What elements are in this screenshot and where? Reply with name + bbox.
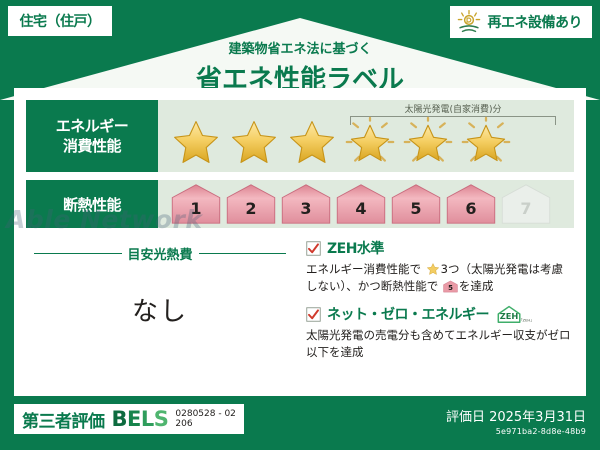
utility-cost-heading: 目安光熱費 — [26, 244, 294, 263]
star-icon — [286, 116, 338, 168]
star-item — [228, 116, 280, 168]
footer: 第三者評価 BELS 0280528 - 02 206 評価日 2025年3月3… — [0, 398, 600, 450]
insulation-badge-inactive: 7 — [500, 183, 552, 225]
insulation-badge-list: 1 2 3 — [170, 183, 552, 225]
renewable-equipment-badge: 再エネ設備あり — [450, 6, 593, 38]
star-icon — [228, 116, 280, 168]
checkbox-checked-icon — [306, 307, 321, 322]
claim-zeh-standard: ZEH水準 エネルギー消費性能で 3つ（太陽光発電は考慮しない）、かつ断熱性能で… — [306, 238, 574, 294]
bels-plate: 第三者評価 BELS 0280528 - 02 206 — [14, 404, 244, 434]
house-type-label: 住宅（住戸） — [20, 11, 101, 31]
insulation-performance-row: 断熱性能 1 — [26, 180, 574, 228]
insulation-badge-number: 1 — [170, 199, 222, 218]
svg-text:「ZEH」: 「ZEH」 — [519, 318, 533, 323]
star-icon — [460, 116, 512, 168]
zeh-logo-icon: ZEH 「ZEH」 — [495, 304, 533, 324]
claims-section: ZEH水準 エネルギー消費性能で 3つ（太陽光発電は考慮しない）、かつ断熱性能で… — [306, 238, 574, 382]
evaluation-date-label: 評価日 — [446, 410, 485, 425]
star-icon — [402, 116, 454, 168]
star-icon — [170, 116, 222, 168]
insulation-badge: 5 — [390, 183, 442, 225]
utility-cost-label: 目安光熱費 — [128, 244, 193, 263]
energy-performance-label: 建築物省エネ法に基づく 省エネ性能ラベル 住宅（住戸） 再エネ設備あり エネルギ… — [0, 0, 600, 450]
divider-left — [34, 253, 122, 254]
energy-performance-key: エネルギー 消費性能 — [26, 100, 158, 172]
claim-body-part1: エネルギー消費性能で — [306, 262, 421, 276]
insulation-badge-number: 4 — [335, 199, 387, 218]
star-item-solar — [344, 116, 396, 168]
svg-text:5: 5 — [448, 284, 453, 292]
insulation-badge-number: 5 — [390, 199, 442, 218]
insulation-key-label: 断熱性能 — [63, 194, 121, 215]
insulation-badge: 1 — [170, 183, 222, 225]
star-icon — [344, 116, 396, 168]
renewable-badge-label: 再エネ設備あり — [488, 12, 583, 32]
energy-key-line2: 消費性能 — [63, 136, 121, 156]
bels-number-line2: 206 — [175, 419, 192, 429]
utility-cost-section: 目安光熱費 なし — [26, 238, 294, 382]
insulation-badge-current: 6 — [445, 183, 497, 225]
evaluation-hash: 5e971ba2-8d8e-48b9 — [446, 427, 586, 436]
evaluation-info: 評価日 2025年3月31日 5e971ba2-8d8e-48b9 — [446, 406, 586, 436]
sun-icon — [456, 9, 482, 35]
insulation-performance-value: 1 2 3 — [158, 180, 574, 228]
claim-net-zero-energy: ネット・ゼロ・エネルギー ZEH 「ZEH」 太陽光発電の売電分も含めてエネルギ… — [306, 304, 574, 360]
insulation-badge-number: 3 — [280, 199, 332, 218]
checkbox-checked-icon — [306, 241, 321, 256]
claim-body: 太陽光発電の売電分も含めてエネルギー収支がゼロ以下を達成 — [306, 327, 574, 360]
bels-number-line1: 0280528 - 02 — [175, 409, 236, 419]
evaluation-date: 評価日 2025年3月31日 — [446, 406, 586, 425]
energy-key-line1: エネルギー — [56, 116, 129, 136]
insulation-performance-key: 断熱性能 — [26, 180, 158, 228]
insulation-badge: 3 — [280, 183, 332, 225]
claim-header: ネット・ゼロ・エネルギー ZEH 「ZEH」 — [306, 304, 574, 324]
bels-number: 0280528 - 02 206 — [175, 409, 236, 430]
star-item — [286, 116, 338, 168]
insulation-badge-number: 2 — [225, 199, 277, 218]
house-badge-icon: 5 — [443, 280, 458, 293]
evaluation-date-value: 2025年3月31日 — [489, 410, 586, 425]
insulation-badge-number: 6 — [445, 199, 497, 218]
claim-title: ZEH水準 — [327, 238, 384, 258]
insulation-badge: 2 — [225, 183, 277, 225]
svg-text:ZEH: ZEH — [500, 311, 519, 321]
main-panel: エネルギー 消費性能 太陽光発電(自家消費)分 — [14, 88, 586, 396]
insulation-badge-number: 7 — [500, 199, 552, 218]
claim-title: ネット・ゼロ・エネルギー — [327, 304, 489, 324]
claim-body: エネルギー消費性能で 3つ（太陽光発電は考慮しない）、かつ断熱性能で 5 を達成 — [306, 261, 574, 294]
claim-body-part3: を達成 — [459, 279, 494, 293]
star-icon — [426, 262, 440, 276]
star-item-solar — [402, 116, 454, 168]
title-subtitle: 建築物省エネ法に基づく — [0, 38, 600, 57]
energy-performance-row: エネルギー 消費性能 太陽光発電(自家消費)分 — [26, 100, 574, 172]
insulation-badge: 4 — [335, 183, 387, 225]
claim-header: ZEH水準 — [306, 238, 574, 258]
house-type-tag: 住宅（住戸） — [8, 6, 112, 36]
star-item-solar — [460, 116, 512, 168]
star-item — [170, 116, 222, 168]
solar-bracket-label: 太陽光発電(自家消費)分 — [350, 102, 556, 115]
third-party-label: 第三者評価 — [22, 407, 105, 432]
energy-performance-value: 太陽光発電(自家消費)分 — [158, 100, 574, 172]
divider-right — [199, 253, 287, 254]
star-rating — [170, 116, 512, 168]
bels-logo: BELS — [112, 407, 169, 431]
utility-cost-value: なし — [26, 291, 294, 328]
